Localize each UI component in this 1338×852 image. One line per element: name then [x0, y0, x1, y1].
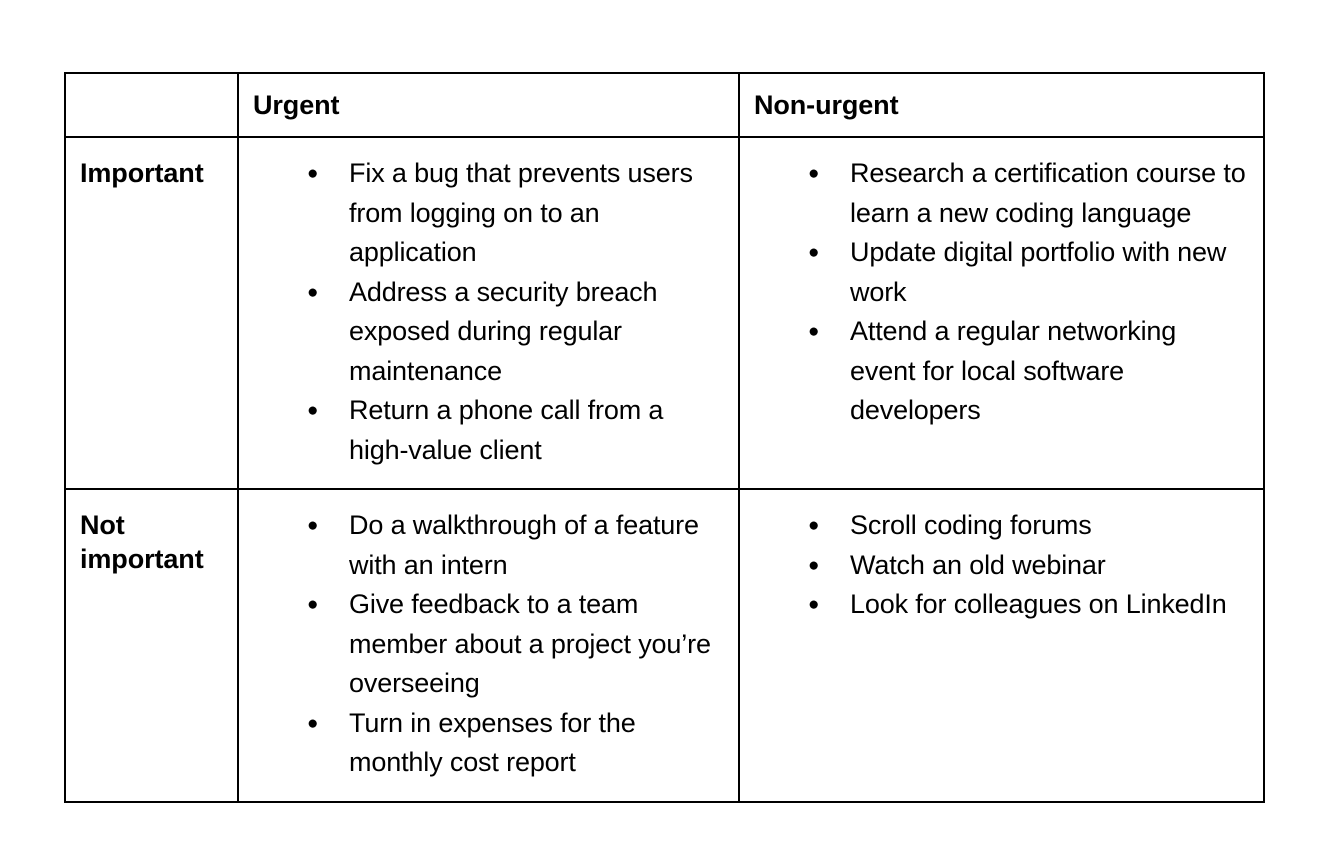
column-header-urgent-label: Urgent — [239, 74, 738, 121]
list-item: ●Address a security breach exposed durin… — [239, 273, 722, 392]
task-text: Address a security breach exposed during… — [349, 277, 657, 386]
list-item: ●Do a walkthrough of a feature with an i… — [239, 506, 722, 585]
task-list-not-important-urgent: ●Do a walkthrough of a feature with an i… — [239, 490, 738, 801]
cell-not-important-urgent: ●Do a walkthrough of a feature with an i… — [238, 489, 739, 802]
eisenhower-matrix: Urgent Non-urgent Important ●Fix a bug t… — [64, 72, 1264, 803]
list-item: ●Look for colleagues on LinkedIn — [740, 585, 1247, 625]
task-text: Turn in expenses for the monthly cost re… — [349, 708, 636, 778]
task-text: Do a walkthrough of a feature with an in… — [349, 510, 699, 580]
task-text: Update digital portfolio with new work — [850, 237, 1226, 307]
cell-not-important-non-urgent: ●Scroll coding forums ●Watch an old webi… — [739, 489, 1264, 802]
task-list-important-urgent: ●Fix a bug that prevents users from logg… — [239, 138, 738, 488]
column-header-non-urgent: Non-urgent — [739, 73, 1264, 137]
bullet-icon: ● — [307, 391, 321, 431]
task-list-not-important-non-urgent: ●Scroll coding forums ●Watch an old webi… — [740, 490, 1263, 643]
row-header-not-important-label: Not important — [66, 490, 237, 576]
list-item: ●Fix a bug that prevents users from logg… — [239, 154, 722, 273]
task-list-important-non-urgent: ●Research a certification course to lear… — [740, 138, 1263, 449]
table-row-not-important: Not important ●Do a walkthrough of a fea… — [65, 489, 1264, 802]
list-item: ●Research a certification course to lear… — [740, 154, 1247, 233]
table-header-row: Urgent Non-urgent — [65, 73, 1264, 137]
bullet-icon: ● — [307, 506, 321, 546]
bullet-icon: ● — [808, 546, 822, 586]
list-item: ●Scroll coding forums — [740, 506, 1247, 546]
bullet-icon: ● — [307, 585, 321, 625]
list-item: ●Update digital portfolio with new work — [740, 233, 1247, 312]
row-header-not-important: Not important — [65, 489, 238, 802]
task-text: Give feedback to a team member about a p… — [349, 589, 711, 698]
bullet-icon: ● — [808, 506, 822, 546]
list-item: ●Turn in expenses for the monthly cost r… — [239, 704, 722, 783]
column-header-urgent: Urgent — [238, 73, 739, 137]
task-text: Return a phone call from a high-value cl… — [349, 395, 663, 465]
bullet-icon: ● — [307, 273, 321, 313]
cell-important-non-urgent: ●Research a certification course to lear… — [739, 137, 1264, 489]
task-text: Scroll coding forums — [850, 510, 1092, 540]
bullet-icon: ● — [307, 154, 321, 194]
list-item: ●Attend a regular networking event for l… — [740, 312, 1247, 431]
bullet-icon: ● — [307, 704, 321, 744]
priority-matrix-table: Urgent Non-urgent Important ●Fix a bug t… — [64, 72, 1265, 803]
table-row-important: Important ●Fix a bug that prevents users… — [65, 137, 1264, 489]
bullet-icon: ● — [808, 154, 822, 194]
task-text: Research a certification course to learn… — [850, 158, 1246, 228]
row-header-important: Important — [65, 137, 238, 489]
corner-label — [66, 74, 237, 89]
list-item: ●Watch an old webinar — [740, 546, 1247, 586]
bullet-icon: ● — [808, 585, 822, 625]
task-text: Fix a bug that prevents users from loggi… — [349, 158, 693, 267]
bullet-icon: ● — [808, 312, 822, 352]
task-text: Attend a regular networking event for lo… — [850, 316, 1176, 425]
task-text: Look for colleagues on LinkedIn — [850, 589, 1227, 619]
corner-cell — [65, 73, 238, 137]
row-header-important-label: Important — [66, 138, 237, 190]
column-header-non-urgent-label: Non-urgent — [740, 74, 1263, 121]
list-item: ●Give feedback to a team member about a … — [239, 585, 722, 704]
bullet-icon: ● — [808, 233, 822, 273]
task-text: Watch an old webinar — [850, 550, 1106, 580]
list-item: ●Return a phone call from a high-value c… — [239, 391, 722, 470]
cell-important-urgent: ●Fix a bug that prevents users from logg… — [238, 137, 739, 489]
